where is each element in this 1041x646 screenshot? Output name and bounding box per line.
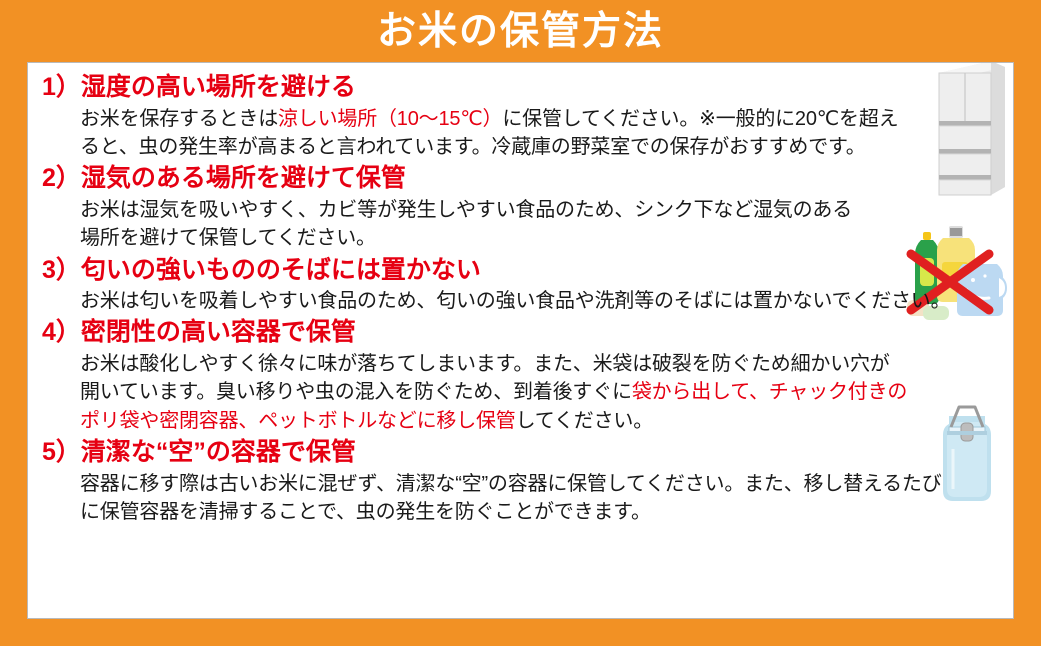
section-4-body: お米は酸化しやすく徐々に味が落ちてしまいます。また、米袋は破裂を防ぐため細かい穴…	[80, 350, 1005, 435]
section-5-body: 容器に移す際は古いお米に混ぜず、清潔な“空”の容器に保管してください。また、移し…	[80, 470, 1005, 527]
section-3-title: 匂いの強いもののそばには置かない	[81, 256, 481, 284]
section-3-line-1: お米は匂いを吸着しやすい食品のため、匂いの強い食品や洗剤等のそばには置かないでく…	[80, 287, 1005, 315]
section-2: 2）湿気のある場所を避けて保管 お米は湿気を吸いやすく、カビ等が発生しやすい食品…	[38, 162, 1005, 252]
content-card: 1）湿度の高い場所を避ける お米を保存するときは涼しい場所（10〜15℃）に保管…	[27, 62, 1014, 619]
section-4-number: 4）	[42, 318, 81, 346]
section-2-line-2: 場所を避けて保管してください。	[80, 224, 1005, 252]
section-4: 4）密閉性の高い容器で保管 お米は酸化しやすく徐々に味が落ちてしまいます。また、…	[38, 316, 1005, 435]
sections-list: 1）湿度の高い場所を避ける お米を保存するときは涼しい場所（10〜15℃）に保管…	[28, 63, 1014, 527]
section-5: 5）清潔な“空”の容器で保管 容器に移す際は古いお米に混ぜず、清潔な“空”の容器…	[38, 436, 1005, 526]
section-5-line-2: に保管容器を清掃することで、虫の発生を防ぐことができます。	[80, 498, 1005, 526]
section-4-line-3: ポリ袋や密閉容器、ペットボトルなどに移し保管してください。	[80, 407, 1005, 435]
section-1: 1）湿度の高い場所を避ける お米を保存するときは涼しい場所（10〜15℃）に保管…	[38, 71, 1005, 161]
section-1-body: お米を保存するときは涼しい場所（10〜15℃）に保管してください。※一般的に20…	[80, 105, 1005, 162]
section-3-heading: 3）匂いの強いもののそばには置かない	[42, 254, 1005, 287]
section-5-heading: 5）清潔な“空”の容器で保管	[42, 436, 1005, 469]
section-5-number: 5）	[42, 438, 81, 466]
section-5-line-1: 容器に移す際は古いお米に混ぜず、清潔な“空”の容器に保管してください。また、移し…	[80, 470, 1005, 498]
section-3: 3）匂いの強いもののそばには置かない お米は匂いを吸着しやすい食品のため、匂いの…	[38, 254, 1005, 316]
section-4-line-1: お米は酸化しやすく徐々に味が落ちてしまいます。また、米袋は破裂を防ぐため細かい穴…	[80, 350, 1005, 378]
section-2-body: お米は湿気を吸いやすく、カビ等が発生しやすい食品のため、シンク下など湿気のある …	[80, 196, 1005, 253]
section-4-heading: 4）密閉性の高い容器で保管	[42, 316, 1005, 349]
section-1-line-1: お米を保存するときは涼しい場所（10〜15℃）に保管してください。※一般的に20…	[80, 105, 1005, 133]
section-1-heading: 1）湿度の高い場所を避ける	[42, 71, 1005, 104]
page-title: お米の保管方法	[0, 0, 1041, 62]
section-3-number: 3）	[42, 256, 81, 284]
section-3-body: お米は匂いを吸着しやすい食品のため、匂いの強い食品や洗剤等のそばには置かないでく…	[80, 287, 1005, 315]
section-2-title: 湿気のある場所を避けて保管	[81, 164, 406, 192]
section-4-line-2: 開いています。臭い移りや虫の混入を防ぐため、到着後すぐに袋から出して、チャック付…	[80, 378, 1005, 406]
poster-root: お米の保管方法	[0, 0, 1041, 646]
section-1-line-2: ると、虫の発生率が高まると言われています。冷蔵庫の野菜室での保存がおすすめです。	[80, 133, 1005, 161]
section-4-title: 密閉性の高い容器で保管	[81, 318, 356, 346]
section-2-number: 2）	[42, 164, 81, 192]
section-2-heading: 2）湿気のある場所を避けて保管	[42, 162, 1005, 195]
section-2-line-1: お米は湿気を吸いやすく、カビ等が発生しやすい食品のため、シンク下など湿気のある	[80, 196, 1005, 224]
section-1-number: 1）	[42, 73, 81, 101]
section-5-title: 清潔な“空”の容器で保管	[81, 438, 356, 466]
section-1-title: 湿度の高い場所を避ける	[81, 73, 356, 101]
